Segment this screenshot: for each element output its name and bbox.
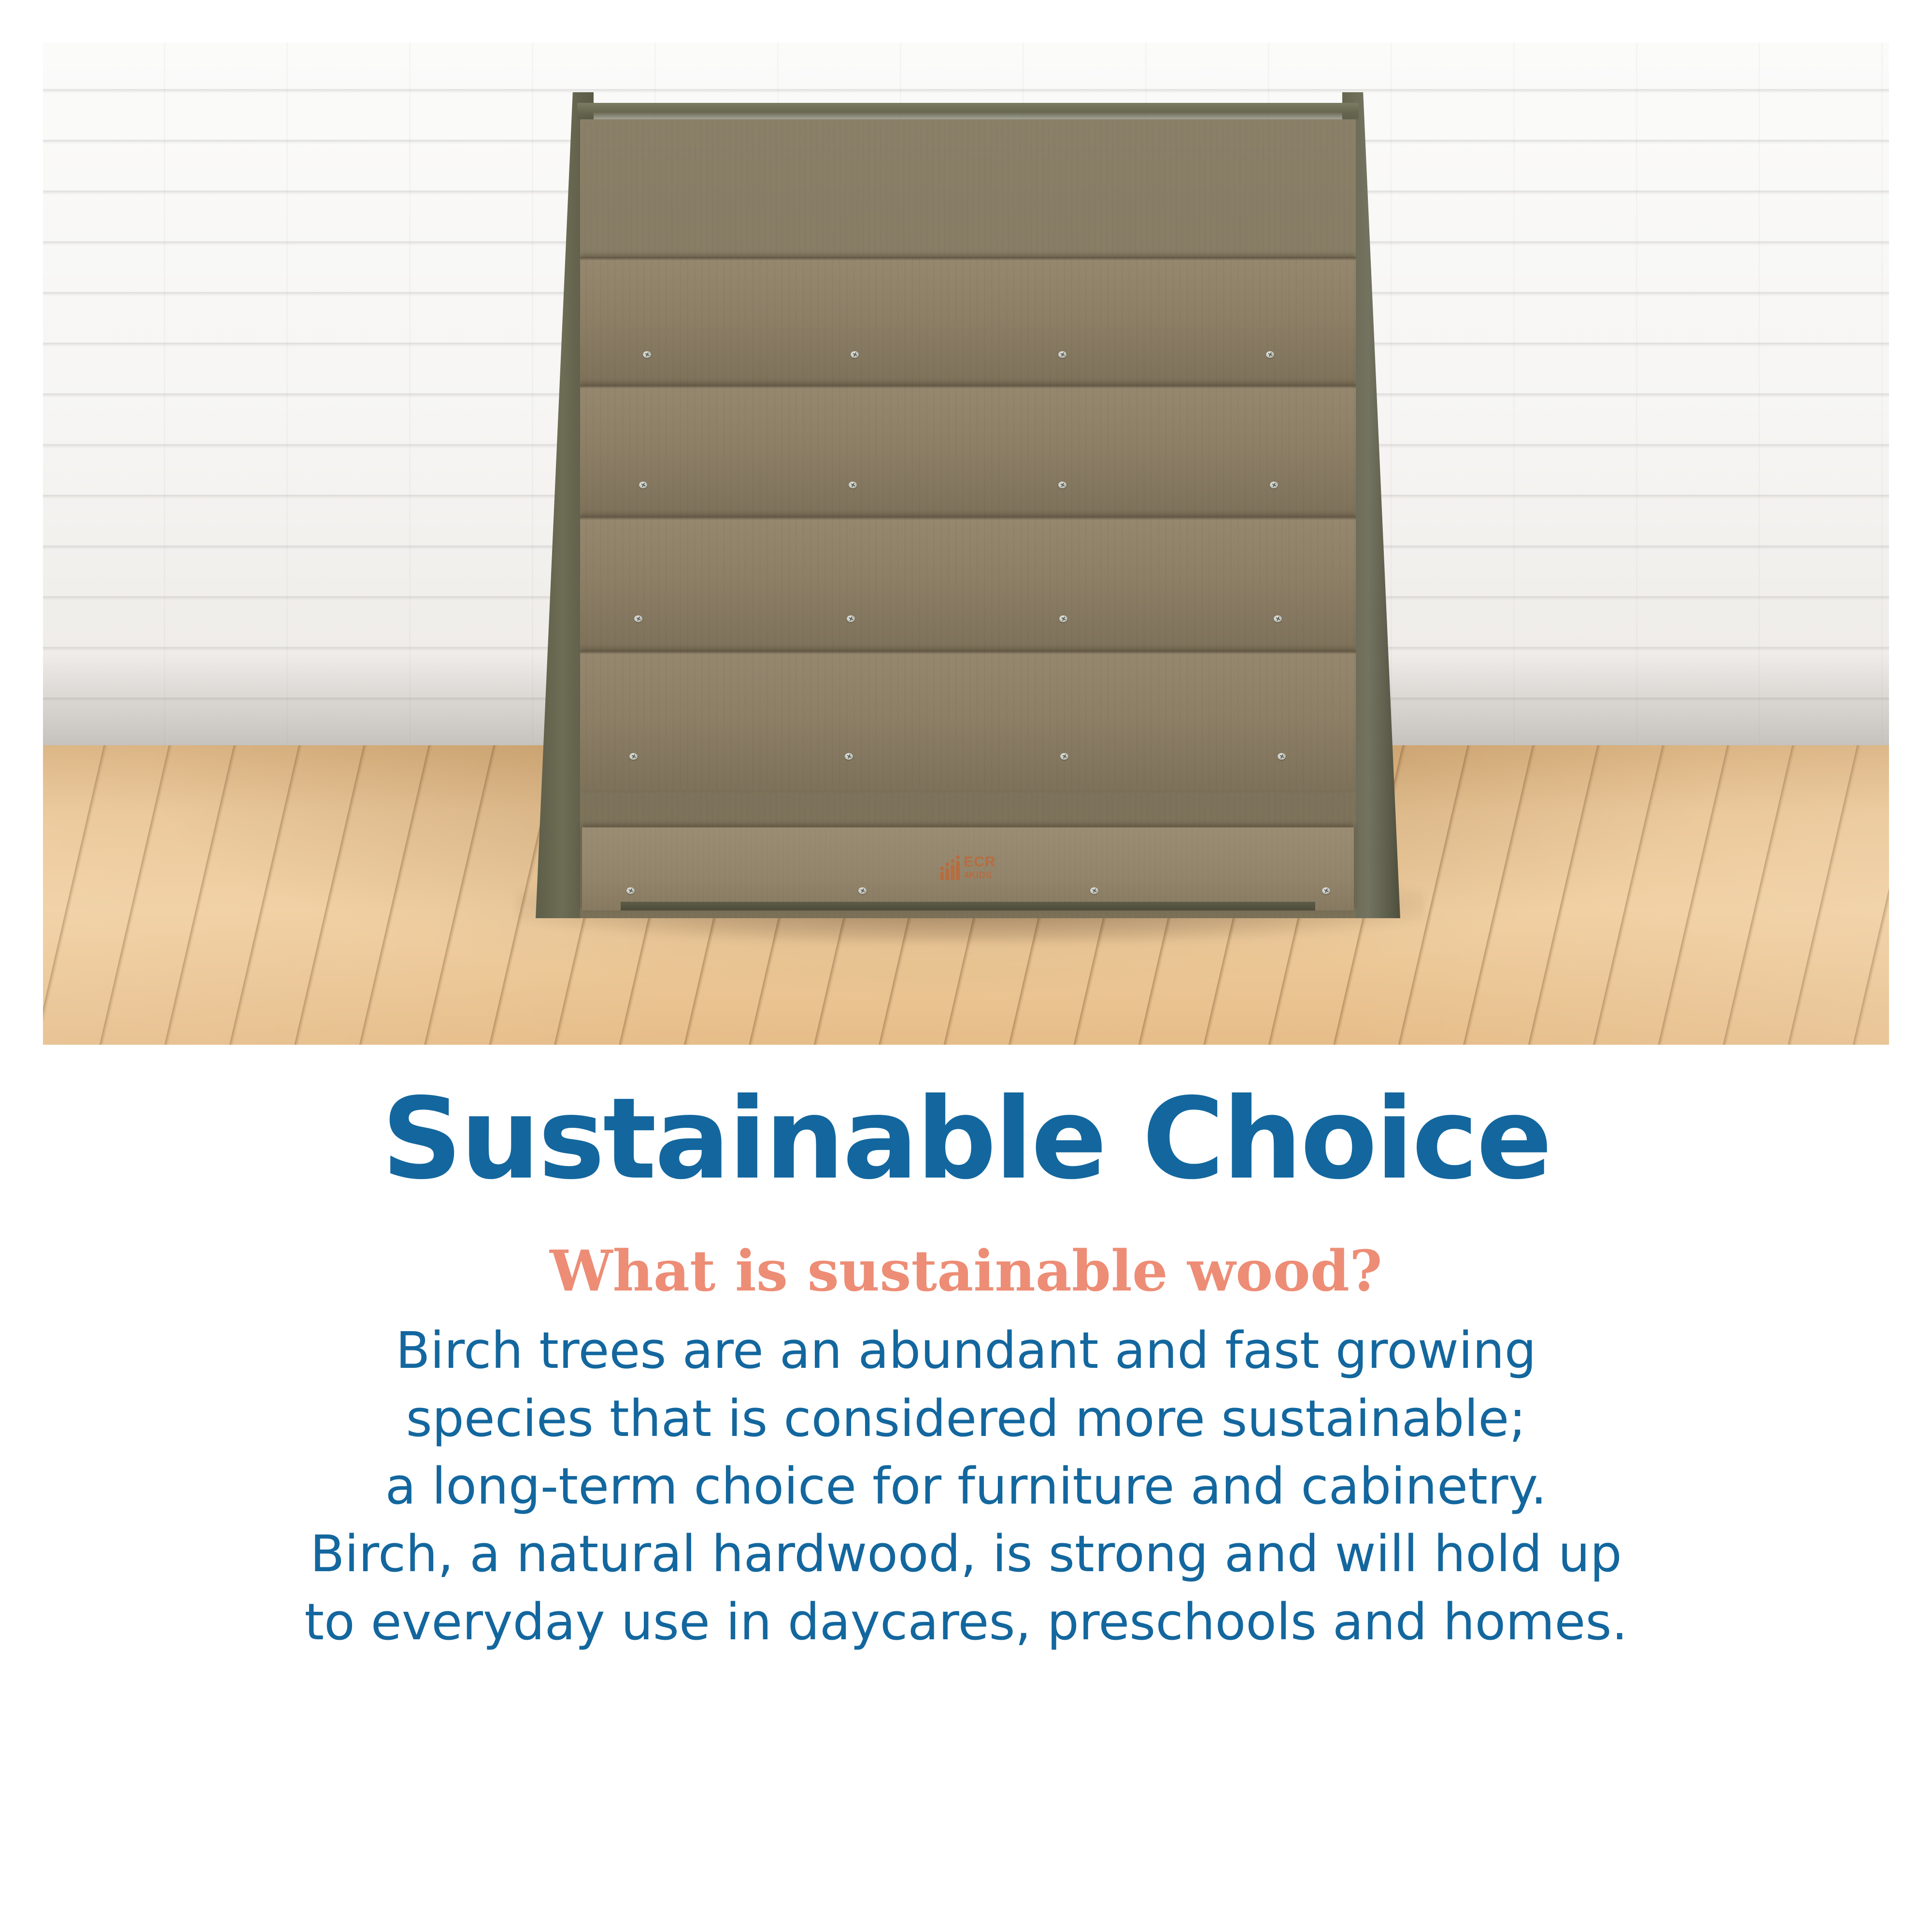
body-line: species that is considered more sustaina… [0,1385,1932,1452]
logo-secondary-text: 4KIDS [964,871,995,880]
shelf-row [580,385,1356,516]
shelf-lip [580,516,1356,520]
text-content: Sustainable Choice What is sustainable w… [0,1082,1932,1656]
screw-icon [845,753,853,760]
screw-icon [1274,615,1282,622]
screw-icon [629,753,638,760]
screw-icon [858,887,867,894]
body-line: to everyday use in daycares, preschools … [0,1588,1932,1656]
ecr4kids-logo-text: ECR 4KIDS [964,855,995,880]
screw-icon [851,351,859,358]
product-photo: ECR 4KIDS [43,43,1889,1045]
sustainable-choice-infographic: ECR 4KIDS Sustainable Choice What is sus… [0,0,1932,1932]
screw-icon [1058,351,1066,358]
screw-icon [1270,482,1278,488]
body-line: Birch trees are an abundant and fast gro… [0,1317,1932,1384]
screw-icon [1060,753,1068,760]
section-subtitle: What is sustainable wood? [0,1241,1932,1303]
page-title: Sustainable Choice [0,1082,1932,1196]
shelf-field [580,119,1356,918]
screw-icon [634,615,642,622]
shelf-lip [580,385,1356,388]
base-foot [621,902,1315,910]
body-paragraph: Birch trees are an abundant and fast gro… [0,1317,1932,1656]
book-display-stand: ECR 4KIDS [536,92,1400,918]
screw-icon [1322,887,1330,894]
ecr4kids-figures-icon [940,860,960,880]
screw-icon [643,351,651,358]
screw-icon [847,615,855,622]
screw-icon [1058,482,1066,488]
logo-primary-text: ECR [964,855,995,869]
base-panel: ECR 4KIDS [582,827,1354,910]
shelf-lip [580,257,1356,260]
screw-icon [1059,615,1067,622]
shelf-row [580,257,1356,385]
ecr4kids-logo: ECR 4KIDS [940,855,995,880]
screw-icon [1090,887,1098,894]
screw-icon [849,482,857,488]
shelf-lip [580,651,1356,654]
shelf-row [580,651,1356,791]
screw-icon [626,887,635,894]
body-line: a long-term choice for furniture and cab… [0,1452,1932,1520]
shelf-row [580,516,1356,651]
screw-icon [639,482,647,488]
screw-icon [1278,753,1286,760]
top-rail [577,103,1359,119]
screw-icon [1266,351,1274,358]
body-line: Birch, a natural hardwood, is strong and… [0,1520,1932,1588]
